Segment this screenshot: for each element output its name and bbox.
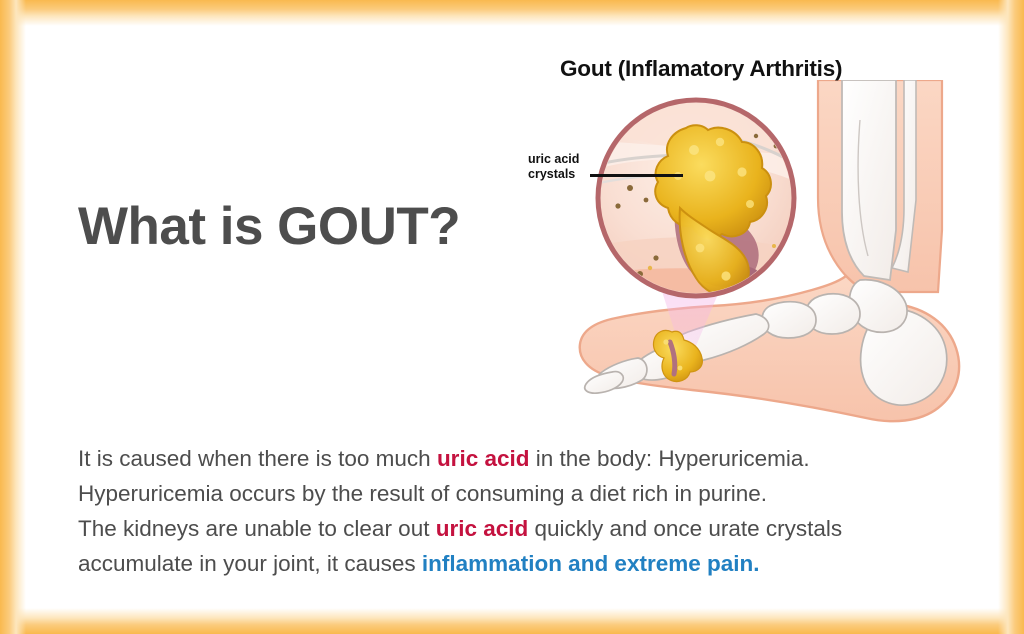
uric-acid-crystals-label: uric acid crystals	[528, 152, 579, 183]
body-line: accumulate in your joint, it causes infl…	[78, 546, 978, 581]
border-bottom	[0, 608, 1024, 634]
body-text: accumulate in your joint, it causes	[78, 551, 422, 576]
leg-bones	[842, 80, 916, 280]
body-text: It is caused when there is too much	[78, 446, 437, 471]
body-line: Hyperuricemia occurs by the result of co…	[78, 476, 978, 511]
border-left	[0, 0, 26, 634]
callout-label-line2: crystals	[528, 167, 579, 182]
highlight-uric-acid: uric acid	[437, 446, 530, 471]
gout-foot-illustration	[560, 80, 980, 425]
slide-canvas: Gout (Inflamatory Arthritis) uric acid c…	[0, 0, 1024, 634]
page-title: What is GOUT?	[78, 196, 460, 257]
body-text: Hyperuricemia occurs by the result of co…	[78, 481, 767, 506]
highlight-inflammation: inflammation and extreme pain.	[422, 551, 760, 576]
border-top	[0, 0, 1024, 26]
highlight-uric-acid: uric acid	[436, 516, 529, 541]
body-line: The kidneys are unable to clear out uric…	[78, 511, 978, 546]
body-text: The kidneys are unable to clear out	[78, 516, 436, 541]
magnifier-circle	[586, 100, 814, 312]
callout-label-line1: uric acid	[528, 152, 579, 167]
body-line: It is caused when there is too much uric…	[78, 441, 978, 476]
border-right	[998, 0, 1024, 634]
body-text: in the body: Hyperuricemia.	[529, 446, 809, 471]
figure-title: Gout (Inflamatory Arthritis)	[560, 56, 960, 82]
callout-leader-line	[590, 174, 683, 177]
body-paragraph: It is caused when there is too much uric…	[78, 441, 978, 581]
body-text: quickly and once urate crystals	[528, 516, 842, 541]
